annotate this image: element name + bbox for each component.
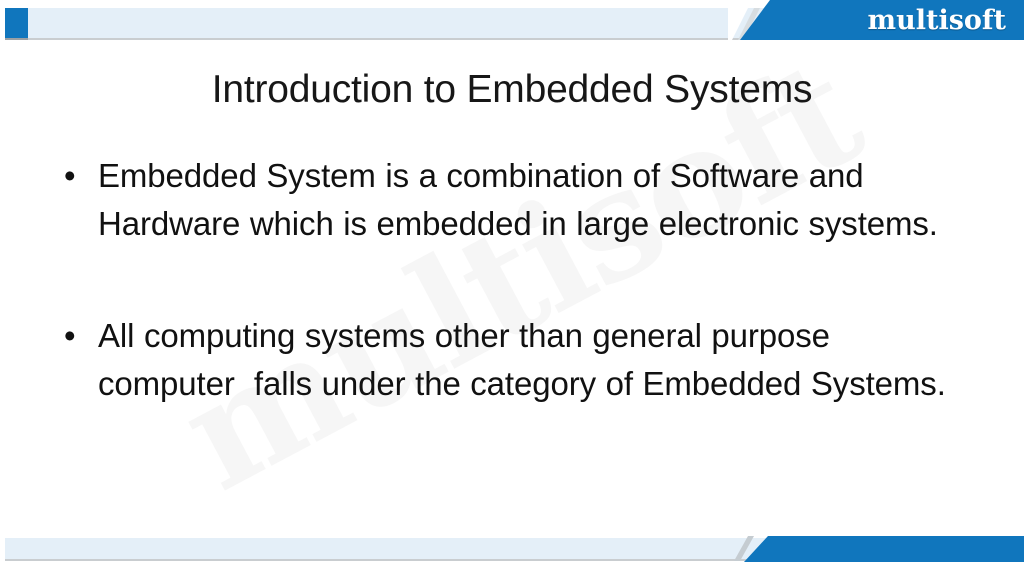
bullet-dot-icon: • — [56, 152, 98, 200]
page-title: Introduction to Embedded Systems — [60, 68, 964, 113]
list-item: • All computing systems other than gener… — [56, 312, 956, 408]
slide: multisoft multisoft Introduction to Embe… — [0, 0, 1024, 576]
footer-brand-block — [744, 536, 1024, 562]
bullet-list: • Embedded System is a combination of So… — [56, 152, 956, 408]
bullet-dot-icon: • — [56, 312, 98, 360]
list-item: • Embedded System is a combination of So… — [56, 152, 956, 248]
slide-header: multisoft — [0, 0, 1024, 48]
list-item-text: All computing systems other than general… — [98, 312, 956, 408]
multisoft-logo: multisoft — [740, 0, 1024, 40]
slide-footer — [0, 528, 1024, 576]
list-item-text: Embedded System is a combination of Soft… — [98, 152, 956, 248]
header-brand-block: multisoft — [740, 0, 1024, 40]
header-accent-square — [5, 8, 28, 40]
